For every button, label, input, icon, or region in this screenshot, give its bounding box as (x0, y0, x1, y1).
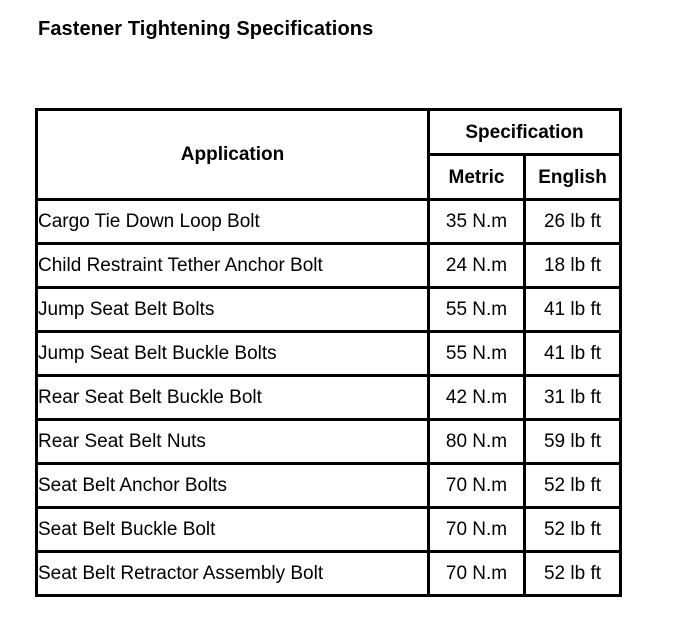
column-header-application: Application (37, 110, 429, 200)
column-header-specification: Specification (429, 110, 621, 155)
cell-application: Rear Seat Belt Buckle Bolt (37, 376, 429, 420)
cell-application: Jump Seat Belt Bolts (37, 288, 429, 332)
cell-application: Seat Belt Buckle Bolt (37, 508, 429, 552)
cell-metric-torque: 42 N.m (429, 376, 525, 420)
cell-english-torque: 31 lb ft (525, 376, 621, 420)
cell-application: Seat Belt Retractor Assembly Bolt (37, 552, 429, 596)
cell-application: Child Restraint Tether Anchor Bolt (37, 244, 429, 288)
table-header-row-primary: Application Specification (37, 110, 621, 155)
cell-metric-torque: 55 N.m (429, 288, 525, 332)
table-row: Rear Seat Belt Buckle Bolt42 N.m31 lb ft (37, 376, 621, 420)
cell-english-torque: 59 lb ft (525, 420, 621, 464)
column-header-english: English (525, 155, 621, 200)
cell-metric-torque: 35 N.m (429, 200, 525, 244)
cell-english-torque: 18 lb ft (525, 244, 621, 288)
cell-application: Seat Belt Anchor Bolts (37, 464, 429, 508)
table-row: Cargo Tie Down Loop Bolt35 N.m26 lb ft (37, 200, 621, 244)
cell-english-torque: 52 lb ft (525, 552, 621, 596)
cell-application: Cargo Tie Down Loop Bolt (37, 200, 429, 244)
table-row: Seat Belt Retractor Assembly Bolt70 N.m5… (37, 552, 621, 596)
cell-metric-torque: 80 N.m (429, 420, 525, 464)
table-row: Jump Seat Belt Bolts55 N.m41 lb ft (37, 288, 621, 332)
cell-metric-torque: 55 N.m (429, 332, 525, 376)
table-row: Seat Belt Anchor Bolts70 N.m52 lb ft (37, 464, 621, 508)
cell-metric-torque: 70 N.m (429, 508, 525, 552)
fastener-specification-table: Application Specification Metric English… (35, 108, 622, 597)
cell-metric-torque: 70 N.m (429, 464, 525, 508)
cell-application: Rear Seat Belt Nuts (37, 420, 429, 464)
cell-metric-torque: 24 N.m (429, 244, 525, 288)
table-row: Rear Seat Belt Nuts80 N.m59 lb ft (37, 420, 621, 464)
table-row: Child Restraint Tether Anchor Bolt24 N.m… (37, 244, 621, 288)
cell-metric-torque: 70 N.m (429, 552, 525, 596)
table-row: Jump Seat Belt Buckle Bolts55 N.m41 lb f… (37, 332, 621, 376)
table-header: Application Specification Metric English (37, 110, 621, 200)
column-header-metric: Metric (429, 155, 525, 200)
table-row: Seat Belt Buckle Bolt70 N.m52 lb ft (37, 508, 621, 552)
table-body: Cargo Tie Down Loop Bolt35 N.m26 lb ftCh… (37, 200, 621, 596)
cell-english-torque: 52 lb ft (525, 508, 621, 552)
cell-application: Jump Seat Belt Buckle Bolts (37, 332, 429, 376)
cell-english-torque: 52 lb ft (525, 464, 621, 508)
page-title: Fastener Tightening Specifications (38, 17, 373, 41)
cell-english-torque: 26 lb ft (525, 200, 621, 244)
specification-table-container: Application Specification Metric English… (35, 108, 622, 597)
cell-english-torque: 41 lb ft (525, 288, 621, 332)
cell-english-torque: 41 lb ft (525, 332, 621, 376)
